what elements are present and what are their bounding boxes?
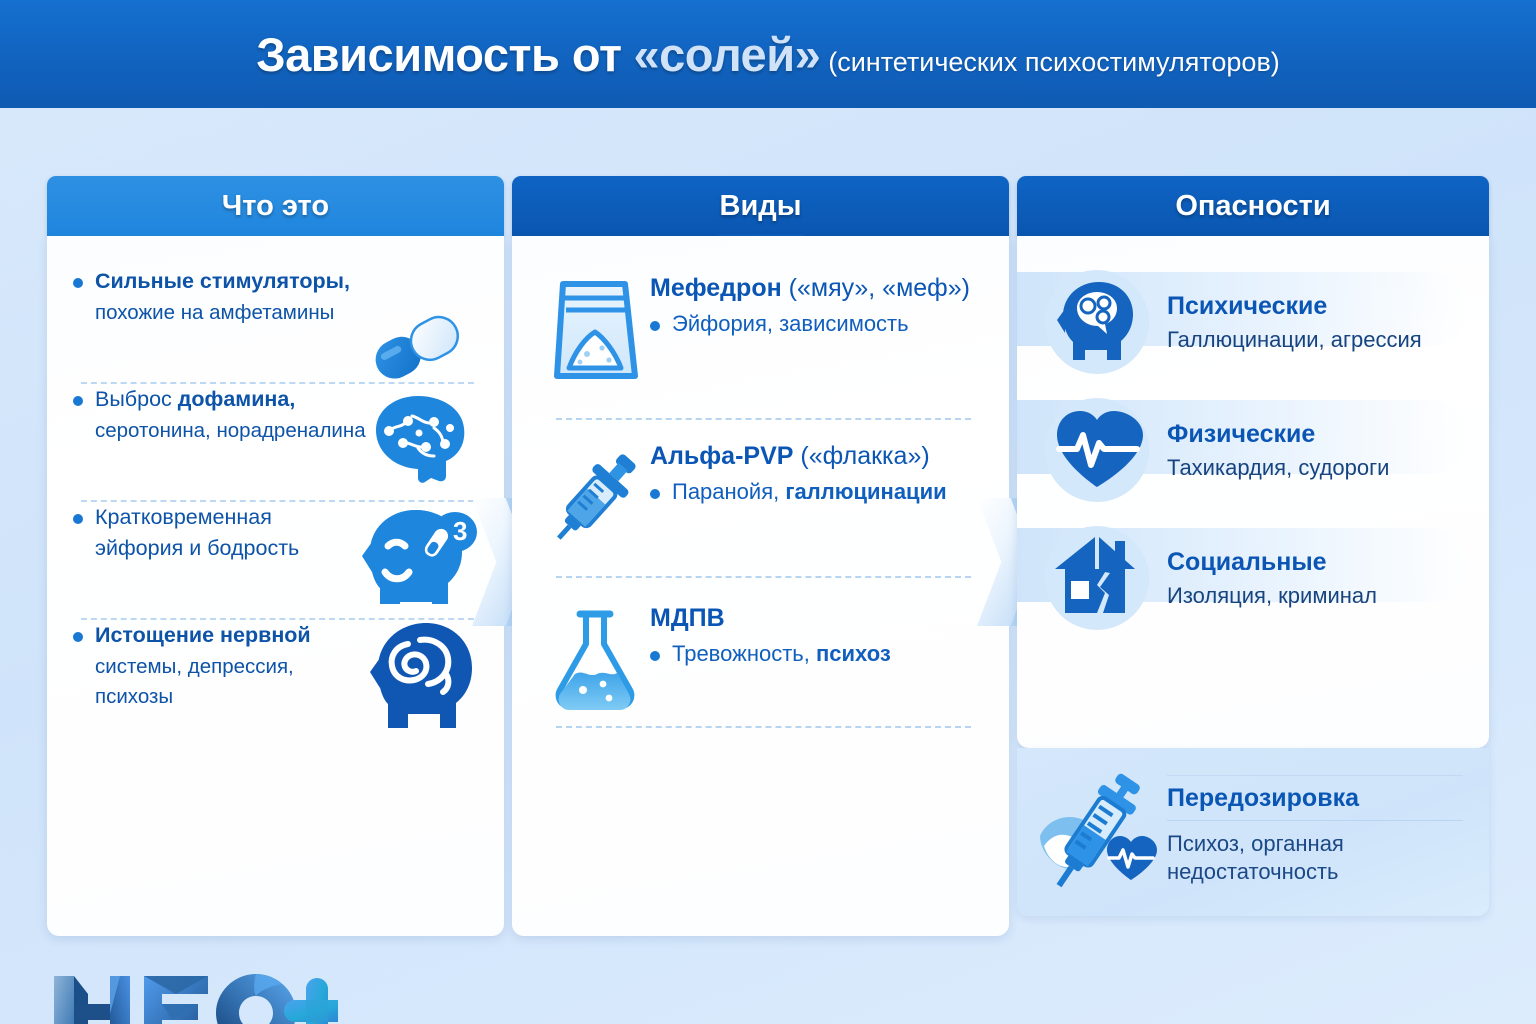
bullet-dot [73,632,83,642]
page-header: Зависимость от «солей» (синтетических пс… [0,0,1536,108]
type-item-1: Мефедрон («мяу», «меф») Эйфория, зависим… [540,270,979,420]
type-item-2-effect: Паранойя, галлюцинации [650,479,947,505]
syringe-icon [540,438,650,552]
type-item-1-effect: Эйфория, зависимость [650,311,970,337]
bullet-dot [73,514,83,524]
column-what-header: Что это [47,176,504,236]
danger-item-1-title: Психические [1167,292,1422,321]
types-divider-3 [556,726,971,728]
column-dangers-heading-text: Опасности [1175,190,1330,223]
what-item-3-line2: эйфория и бодрость [95,536,299,560]
title-main-text: Зависимость от [256,27,621,82]
overdose-body: Передозировка Психоз, органная недостато… [1167,775,1489,889]
powder-bag-icon [540,270,650,384]
what-item-1-line1: Сильные стимуляторы, [95,269,350,293]
type-item-3-effect: Тревожность, психоз [650,641,891,667]
what-item-3: Кратковременная эйфория и бодрость [73,502,478,620]
column-dangers-header: Опасности [1017,176,1489,236]
type-item-3-name-bold: МДПВ [650,604,725,632]
logo-letter-e [144,976,208,1024]
type-item-2-name-bold: Альфа-PVP [650,442,793,470]
what-item-2-line1-bold: дофамина, [178,387,296,411]
brain-network-icon [356,386,482,495]
danger-item-2-iconwrap [1045,398,1149,502]
what-item-2-line2: серотонина, норадреналина [95,419,366,442]
bullet-dot [73,396,83,406]
danger-item-3-iconwrap [1045,526,1149,630]
type-item-2-name-rest: («флакка») [793,442,929,470]
danger-item-3: Социальные Изоляция, криминал [1017,514,1489,642]
what-item-4: Истощение нервной системы, депрессия, пс… [73,620,478,738]
what-item-2: Выброс дофамина, серотонина, норадренали… [73,384,478,502]
type-item-1-name-rest: («мяу», «меф») [782,274,970,302]
what-item-2-line1-plain: Выброс [95,387,178,411]
what-item-1: Сильные стимуляторы, похожие на амфетами… [73,266,478,384]
danger-item-3-body: Социальные Изоляция, криминал [1149,548,1377,609]
overdose-title: Передозировка [1167,784,1471,820]
type-item-3-effect-bold: психоз [816,641,891,666]
danger-item-1-desc: Галлюцинации, агрессия [1167,327,1422,353]
logo-letter-o [216,974,296,1024]
overdose-desc-line1: Психоз, органная [1167,831,1344,856]
head-tangled-brain-icon [358,614,486,739]
column-types-header: Виды [512,176,1009,236]
danger-item-3-desc: Изоляция, криминал [1167,583,1377,609]
bullet-dot [650,651,660,661]
what-item-4-line2: системы, депрессия, психозы [95,655,294,709]
column-what-card: Сильные стимуляторы, похожие на амфетами… [47,236,504,936]
danger-item-1-body: Психические Галлюцинации, агрессия [1149,292,1422,353]
column-dangers: Опасности [1017,176,1489,748]
flask-icon [540,600,650,716]
brand-logo[interactable] [48,970,338,1024]
title-subtitle: (синтетических психостимуляторов) [828,47,1280,78]
danger-item-2-desc: Тахикардия, судороги [1167,455,1389,481]
bullet-dot [650,321,660,331]
danger-item-2: Физические Тахикардия, судороги [1017,386,1489,514]
column-types-card: Мефедрон («мяу», «меф») Эйфория, зависим… [512,236,1009,936]
page-title: Зависимость от «солей» (синтетических пс… [256,27,1280,82]
broken-house-icon [1051,533,1143,624]
logo-letter-n [54,976,130,1024]
danger-item-2-body: Физические Тахикардия, судороги [1149,420,1389,481]
overdose-rule-top [1167,775,1463,776]
danger-item-1-iconwrap [1045,270,1149,374]
what-item-1-line2: похожие на амфетамины [95,301,334,324]
column-types-heading-text: Виды [720,190,802,223]
what-item-4-line1: Истощение нервной [95,623,311,647]
infographic-board: Что это Сильные стимуляторы, похожие на … [0,108,1536,1024]
title-quoted-text: «солей» [634,27,821,82]
type-item-1-name-bold: Мефедрон [650,274,782,302]
what-item-3-line1: Кратковременная [95,505,272,529]
pill-capsule-icon [362,306,474,391]
head-euphoria-icon: 3 [352,500,484,623]
type-item-2-effect-bold: галлюцинации [785,479,946,504]
svg-text:3: 3 [453,516,467,546]
overdose-desc: Психоз, органная недостаточность [1167,830,1471,889]
type-item-1-effect-plain: Эйфория, зависимость [672,311,909,336]
column-types: Виды [512,176,1009,936]
danger-item-1: Психические Галлюцинации, агрессия [1017,258,1489,386]
overdose-rule-bottom [1167,820,1463,821]
bullet-dot [73,278,83,288]
column-what-is-it: Что это Сильные стимуляторы, похожие на … [47,176,504,936]
type-item-2-effect-plain: Паранойя, [672,479,785,504]
head-brain-icon [1051,274,1143,371]
logo-plus-icon [284,978,338,1024]
bullet-dot [650,489,660,499]
type-item-3: МДПВ Тревожность, психоз [540,578,979,728]
overdose-panel: Передозировка Психоз, органная недостато… [1017,748,1489,916]
type-item-1-name: Мефедрон («мяу», «меф») [650,274,970,303]
column-what-heading-text: Что это [222,190,329,223]
heart-pulse-icon [1051,405,1143,496]
type-item-3-name: МДПВ [650,604,891,633]
danger-item-2-title: Физические [1167,420,1389,449]
danger-item-3-title: Социальные [1167,548,1377,577]
type-item-2-name: Альфа-PVP («флакка») [650,442,947,471]
overdose-desc-line2: недостаточность [1167,859,1339,884]
type-item-3-effect-plain: Тревожность, [672,641,816,666]
heart-pulse-small-icon [1105,834,1157,889]
type-item-2: Альфа-PVP («флакка») Паранойя, галлюцина… [540,420,979,578]
column-dangers-card: Психические Галлюцинации, агрессия [1017,236,1489,748]
